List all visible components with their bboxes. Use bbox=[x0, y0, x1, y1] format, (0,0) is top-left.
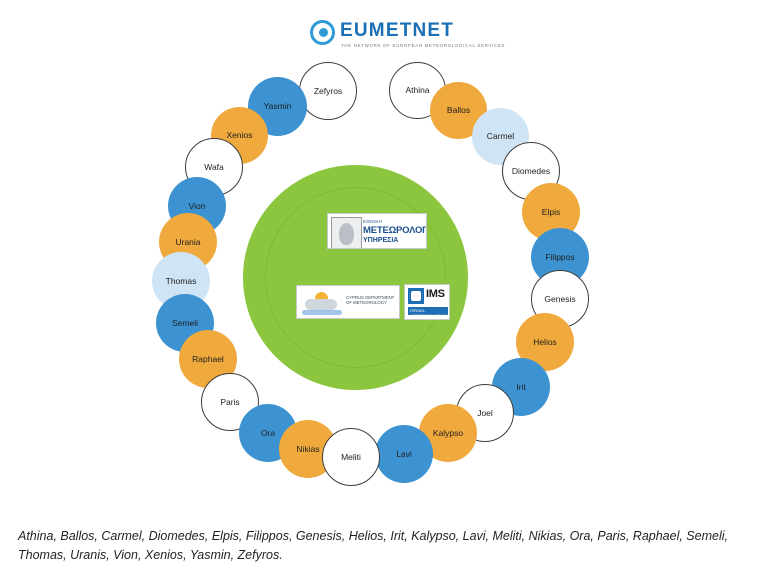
storm-name-circle[interactable]: Zefyros bbox=[299, 62, 357, 120]
eumetnet-wordmark: EUMETNET bbox=[340, 20, 454, 42]
storm-name-label: Xenios bbox=[227, 131, 253, 140]
storm-name-label: Lavi bbox=[396, 450, 412, 459]
storm-name-label: Genesis bbox=[544, 295, 575, 304]
storm-name-label: Ora bbox=[261, 429, 275, 438]
hnms-line1: ΕΘΝΙΚΗ bbox=[363, 219, 382, 224]
storm-name-label: Wafa bbox=[204, 163, 224, 172]
figure-caption: Athina, Ballos, Carmel, Diomedes, Elpis,… bbox=[18, 527, 753, 565]
hnms-logo: ΕΘΝΙΚΗ ΜΕΤΕΩΡΟΛΟΓΙΚΗ ΥΠΗΡΕΣΙΑ bbox=[327, 213, 427, 249]
ims-bar-text: ISRAEL METEOROLOGICAL SERVICE bbox=[410, 308, 450, 320]
storm-name-label: Filippos bbox=[545, 253, 574, 262]
wave-icon bbox=[302, 310, 342, 315]
storm-name-label: Meliti bbox=[341, 453, 361, 462]
hnms-line2: ΜΕΤΕΩΡΟΛΟΓΙΚΗ bbox=[363, 225, 427, 236]
ims-bar: ISRAEL METEOROLOGICAL SERVICE bbox=[408, 307, 448, 315]
storm-names-figure: EUMETNET THE NETWORK OF EUROPEAN METEORO… bbox=[0, 0, 766, 578]
hnms-emblem-icon bbox=[331, 217, 362, 249]
cloud-icon bbox=[305, 299, 337, 310]
storm-name-label: Thomas bbox=[166, 277, 197, 286]
storm-name-label: Diomedes bbox=[512, 167, 550, 176]
storm-name-label: Urania bbox=[175, 238, 200, 247]
storm-name-label: Athina bbox=[405, 86, 429, 95]
storm-name-circle[interactable]: Meliti bbox=[322, 428, 380, 486]
ims-square-icon bbox=[408, 288, 424, 304]
storm-name-label: Joel bbox=[477, 409, 493, 418]
eumetnet-logo: EUMETNET THE NETWORK OF EUROPEAN METEORO… bbox=[310, 18, 460, 58]
hnms-line3: ΥΠΗΡΕΣΙΑ bbox=[363, 237, 398, 244]
storm-name-label: Paris bbox=[220, 398, 239, 407]
ims-wordmark: IMS bbox=[426, 288, 445, 300]
storm-name-label: Yasmin bbox=[264, 102, 292, 111]
figure-panel: EUMETNET THE NETWORK OF EUROPEAN METEORO… bbox=[0, 0, 766, 508]
storm-name-label: Vion bbox=[189, 202, 206, 211]
storm-name-label: Ballos bbox=[447, 106, 470, 115]
storm-name-circle[interactable]: Lavi bbox=[375, 425, 433, 483]
storm-name-label: Elpis bbox=[542, 208, 560, 217]
storm-name-label: Nikias bbox=[296, 445, 319, 454]
storm-name-label: Raphael bbox=[192, 355, 224, 364]
cyprus-met-logo: CYPRUS DEPARTMENT OF METEOROLOGY bbox=[296, 285, 400, 319]
storm-name-label: Helios bbox=[533, 338, 557, 347]
storm-name-label: Irit bbox=[516, 383, 525, 392]
eumetnet-mark-icon bbox=[310, 20, 335, 45]
cyprus-met-text: CYPRUS DEPARTMENT OF METEOROLOGY bbox=[346, 295, 398, 306]
storm-name-label: Carmel bbox=[487, 132, 514, 141]
storm-name-label: Zefyros bbox=[314, 87, 342, 96]
ims-logo: IMS ISRAEL METEOROLOGICAL SERVICE bbox=[404, 284, 450, 320]
storm-name-label: Kalypso bbox=[433, 429, 463, 438]
eumetnet-tagline: THE NETWORK OF EUROPEAN METEOROLOGICAL S… bbox=[341, 43, 505, 48]
storm-name-label: Semeli bbox=[172, 319, 198, 328]
